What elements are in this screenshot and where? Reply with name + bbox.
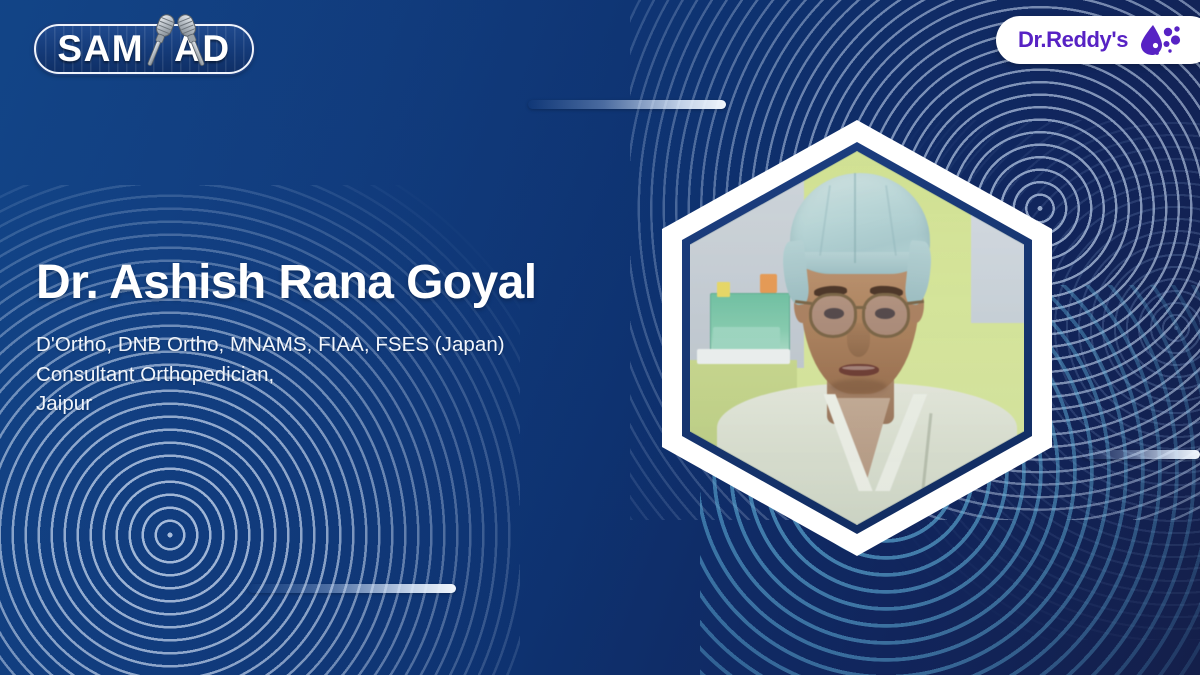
speaker-photo-hexagon (662, 120, 1052, 556)
decorative-bar-right (1082, 450, 1200, 459)
dr-reddys-logo[interactable]: Dr.Reddy's (996, 16, 1200, 64)
samvad-logo[interactable]: SAM AD (28, 10, 260, 78)
photo-scrub-logo (954, 503, 972, 514)
samvad-wordmark-left: SAM (57, 28, 144, 70)
slide-canvas: SAM AD (0, 0, 1200, 675)
speaker-name: Dr. Ashish Rana Goyal (36, 258, 636, 308)
speaker-credentials: D'Ortho, DNB Ortho, MNAMS, FIAA, FSES (J… (36, 330, 636, 359)
speaker-info-block: Dr. Ashish Rana Goyal D'Ortho, DNB Ortho… (36, 258, 636, 418)
decorative-bar-top (528, 100, 726, 109)
speaker-designation: Consultant Orthopedician, (36, 360, 636, 389)
speaker-location: Jaipur (36, 389, 636, 418)
microphone-pair-icon (141, 10, 211, 78)
dr-reddys-droplet-icon (1137, 23, 1183, 57)
dr-reddys-wordmark: Dr.Reddy's (1018, 27, 1128, 53)
decorative-bar-bottom (248, 584, 456, 593)
